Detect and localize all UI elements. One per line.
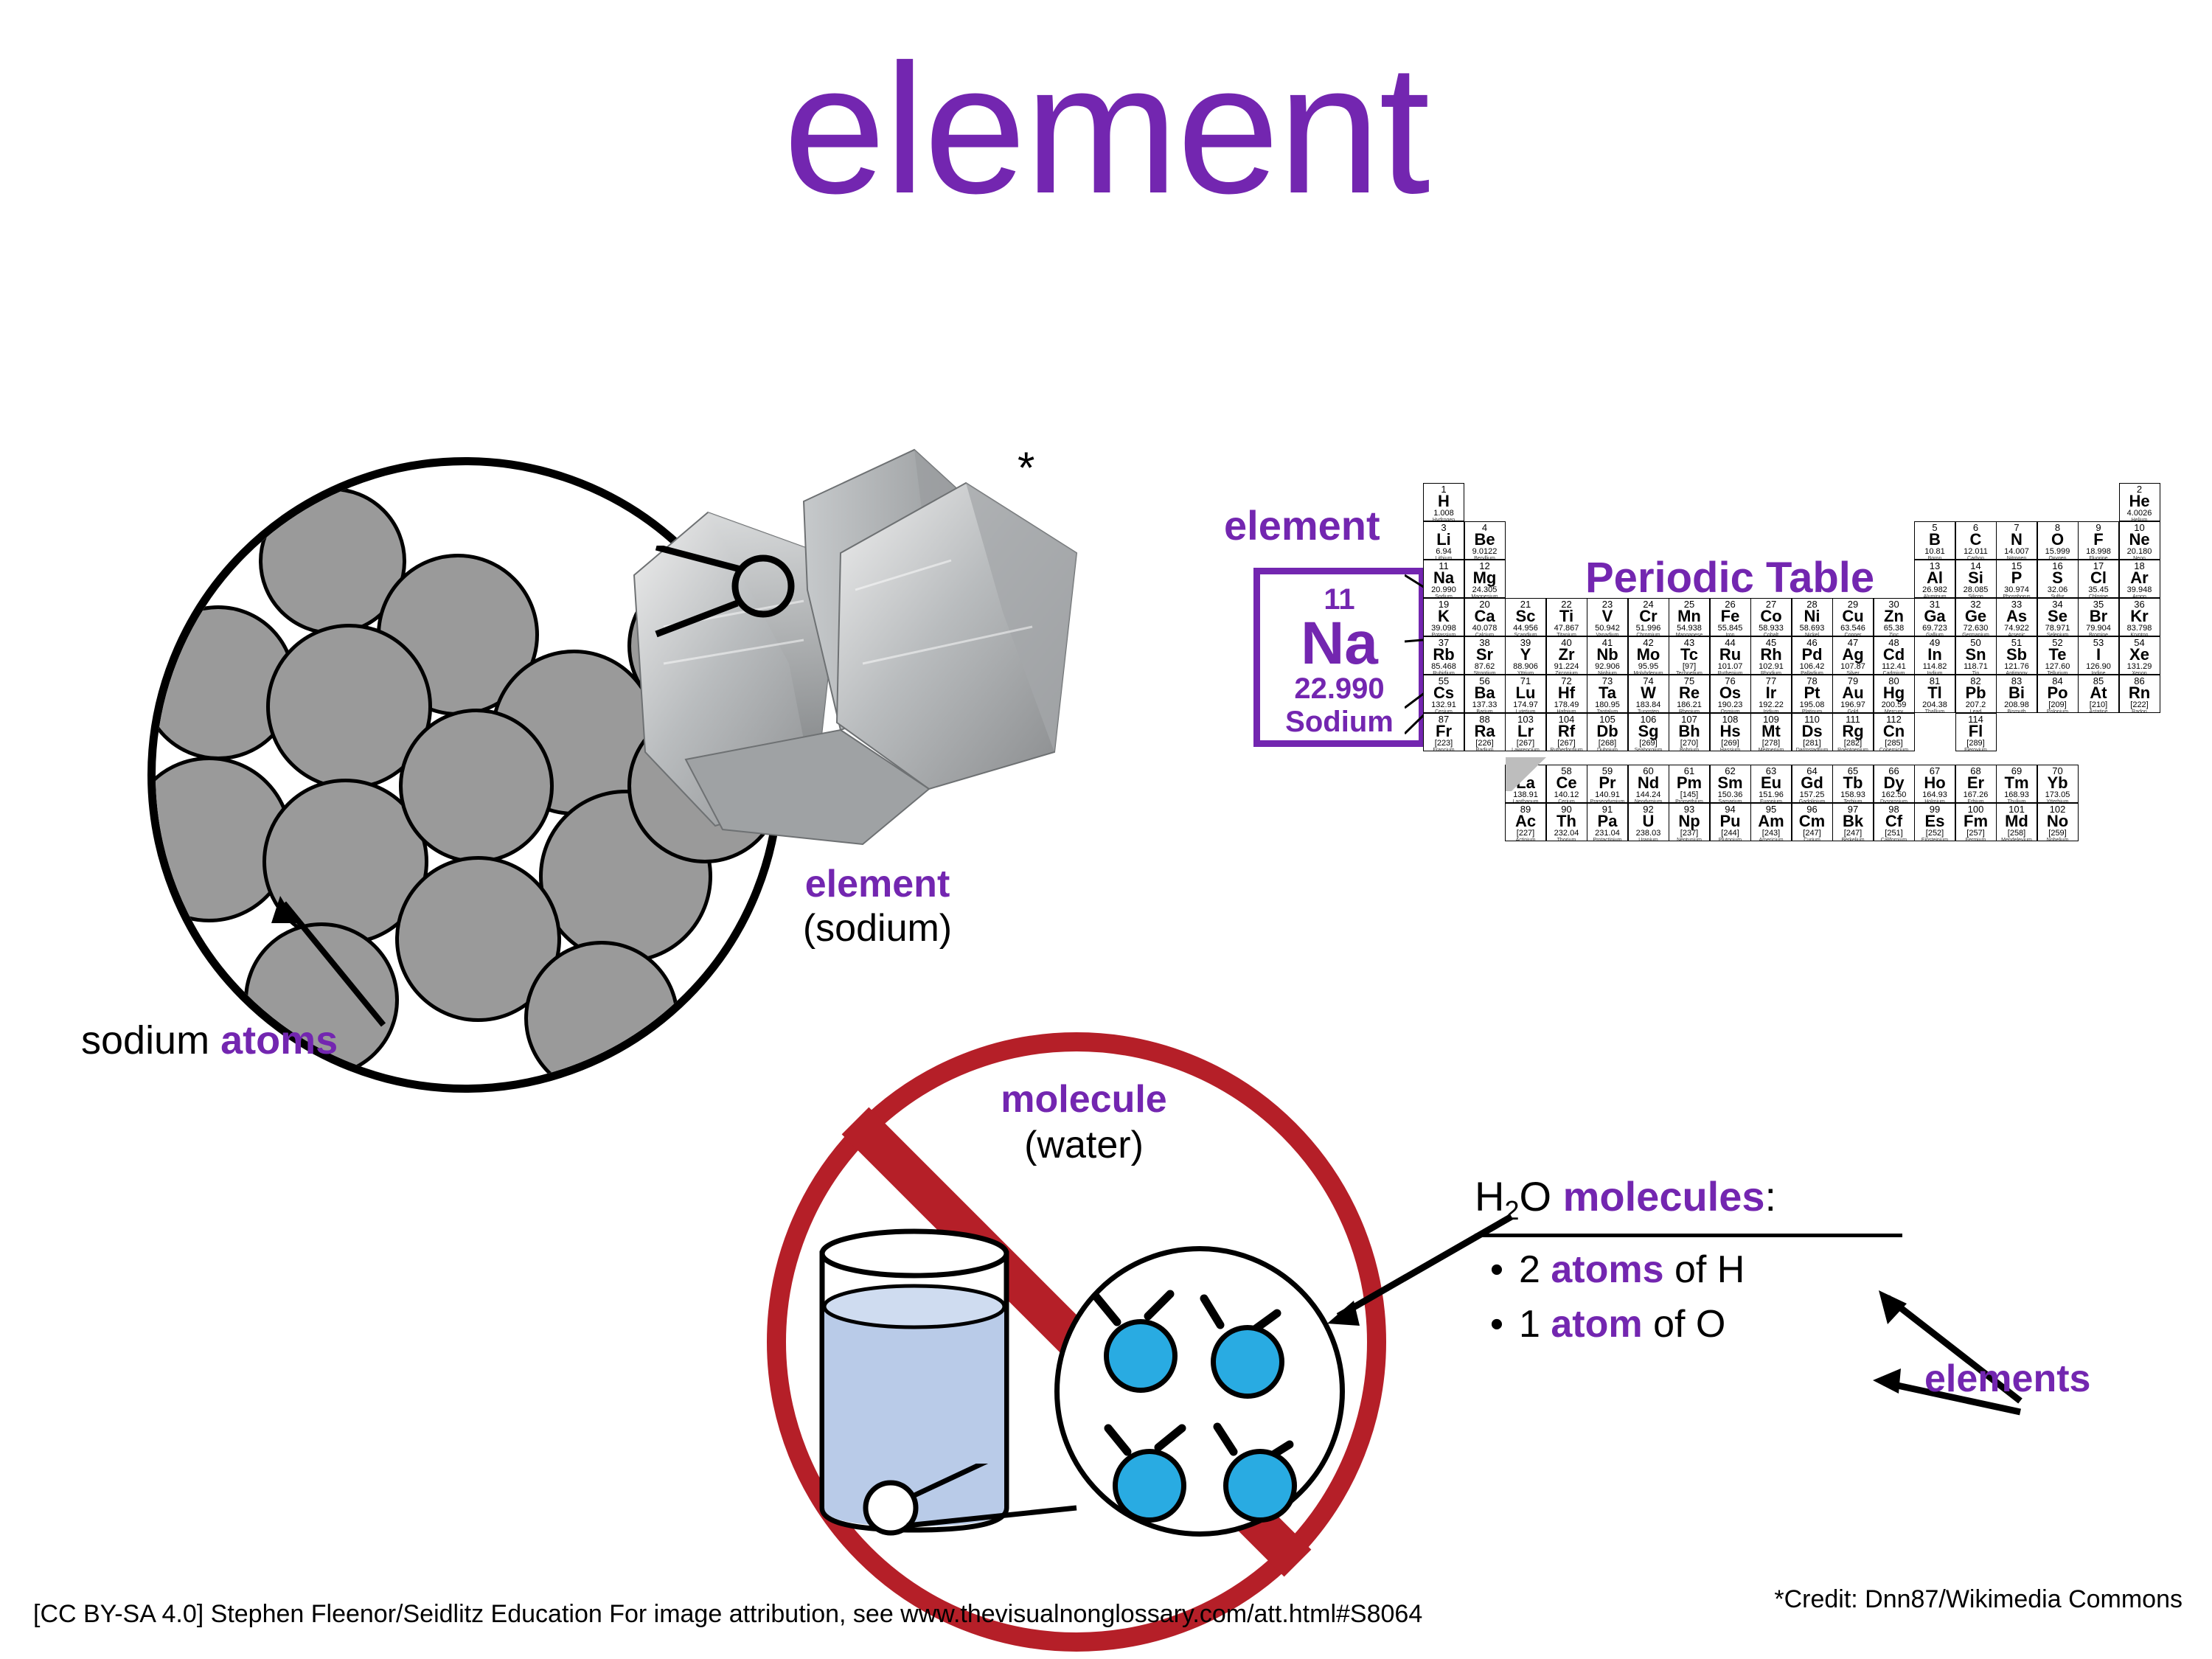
periodic-cell-se: 34Se78.971Selenium [2037,598,2079,636]
cell-mass: [267] [1506,740,1545,748]
cell-mass: 92.906 [1587,663,1627,671]
cell-name: Bohrium [1669,748,1709,751]
cell-symbol: Pm [1669,775,1709,791]
cell-symbol: Mo [1629,647,1669,663]
cell-mass: 102.91 [1751,663,1791,671]
periodic-cell-rb: 37Rb85.468Rubidium [1423,636,1464,675]
footer-credit: *Credit: Dnn87/Wikimedia Commons [1774,1585,2183,1614]
bullet-rest: of H [1664,1248,1745,1291]
cell-mass: 168.93 [1997,791,2037,799]
cell-mass: 65.38 [1874,625,1914,633]
cell-symbol: Cu [1833,608,1873,625]
cell-mass: 58.933 [1751,625,1791,633]
sodium-crystal-image [619,442,1165,914]
cell-mass: 30.974 [1997,586,2037,594]
element-callout-label: element [1224,501,1380,549]
cell-mass: [97] [1669,663,1709,671]
cell-symbol: Sr [1465,647,1505,663]
cell-name: Radium [1465,748,1505,751]
periodic-cell-b: 5B10.81Boron [1914,521,1955,560]
cell-name: Thallium [1915,709,1955,713]
periodic-cell-sb: 51Sb121.76Antimony [1996,636,2037,675]
cell-symbol: In [1915,647,1955,663]
periodic-cell-sg: 106Sg[269]Seaborgium [1628,713,1669,751]
cell-mass: [209] [2038,701,2078,709]
elements-pointer-arrows [1799,1253,2050,1445]
periodic-cell-h: 1H1.008Hydrogen [1423,483,1464,521]
sodium-atoms-label: sodium atoms [81,1018,465,1063]
periodic-cell-zr: 40Zr91.224Zirconium [1546,636,1587,675]
periodic-cell-re: 75Re186.21Rhenium [1669,675,1710,713]
cell-symbol: Po [2038,685,2078,701]
cell-mass: [278] [1751,740,1791,748]
cell-symbol: Ar [2120,570,2160,586]
cell-mass: [251] [1874,829,1914,838]
cell-mass: [282] [1833,740,1873,748]
cell-mass: 232.04 [1547,829,1587,838]
bullet-rest: of O [1643,1303,1726,1346]
cell-name: Neptunium [1669,838,1709,841]
cell-mass: 186.21 [1669,701,1709,709]
cell-symbol: Cl [2079,570,2118,586]
cell-mass: 87.62 [1465,663,1505,671]
cell-symbol: Ru [1711,647,1750,663]
periodic-cell-na: 11Na20.990Sodium [1423,560,1464,598]
footer-attribution: [CC BY-SA 4.0] Stephen Fleenor/Seidlitz … [33,1600,1422,1629]
cell-mass: [269] [1711,740,1750,748]
cell-mass: [227] [1506,829,1545,838]
cell-mass: 50.942 [1587,625,1627,633]
cell-symbol: I [2079,647,2118,663]
periodic-cell-fm: 100Fm[257]Fermium [1955,803,1997,841]
cell-mass: 207.2 [1956,701,1996,709]
cell-mass: 167.26 [1956,791,1996,799]
periodic-cell-la: 57La138.91Lanthanum [1505,765,1546,803]
cell-name: Plutonium [1711,838,1750,841]
cell-symbol: Db [1587,723,1627,740]
cell-symbol: V [1587,608,1627,625]
cell-symbol: P [1997,570,2037,586]
sodium-atomic-mass: 22.990 [1260,672,1419,706]
cell-mass: [222] [2120,701,2160,709]
periodic-cell-os: 76Os190.23Osmium [1710,675,1751,713]
cell-symbol: Pd [1792,647,1832,663]
cell-name: Copernicium [1874,748,1914,751]
periodic-cell-as: 33As74.922Arsenic [1996,598,2037,636]
cell-mass: 121.76 [1997,663,2037,671]
periodic-cell-tb: 65Tb158.93Terbium [1832,765,1874,803]
periodic-cell-lr: 103Lr[267]Lawrencium [1505,713,1546,751]
cell-name: Actinium [1506,838,1545,841]
cell-symbol: Hg [1874,685,1914,701]
periodic-cell-s: 16S32.06Sulfur [2037,560,2079,598]
periodic-cell-ce: 58Ce140.12Cerium [1546,765,1587,803]
oxygen-atom-dot [1104,1319,1178,1393]
cell-mass: 40.078 [1465,625,1505,633]
cell-symbol: Np [1669,813,1709,829]
cell-symbol: W [1629,685,1669,701]
cell-mass: [244] [1711,829,1750,838]
cell-symbol: Cn [1874,723,1914,740]
periodic-cell-mn: 25Mn54.938Manganese [1669,598,1710,636]
cell-name: Flerovium [1956,748,1996,751]
periodic-cell-pm: 61Pm[145]Promethium [1669,765,1710,803]
cell-name: Americium [1751,838,1791,841]
h2o-divider [1475,1234,1902,1237]
periodic-cell-al: 13Al26.982Aluminum [1914,560,1955,598]
cell-symbol: Fe [1711,608,1750,625]
cell-mass: 151.96 [1751,791,1791,799]
cell-symbol: Fr [1424,723,1464,740]
cell-symbol: Md [1997,813,2037,829]
cell-mass: 20.180 [2120,548,2160,556]
cell-symbol: Os [1711,685,1750,701]
cell-symbol: Bk [1833,813,1873,829]
cell-mass: 12.011 [1956,548,1996,556]
periodic-cell-rn: 86Rn[222]Radon [2119,675,2160,713]
periodic-cell-ar: 18Ar39.948Argon [2119,560,2160,598]
cell-mass: 78.971 [2038,625,2078,633]
cell-mass: 208.98 [1997,701,2037,709]
cell-name: Seaborgium [1629,748,1669,751]
cell-name: Hassium [1711,748,1750,751]
periodic-cell-tm: 69Tm168.93Thulium [1996,765,2037,803]
cell-symbol: Ti [1547,608,1587,625]
element-sodium-caption-top: element [708,863,1047,907]
cell-symbol: Y [1506,647,1545,663]
cell-mass: 28.085 [1956,586,1996,594]
cell-mass: [145] [1669,791,1709,799]
cell-symbol: Au [1833,685,1873,701]
periodic-cell-hg: 80Hg200.59Mercury [1874,675,1915,713]
cell-mass: 14.007 [1997,548,2037,556]
cell-mass: 32.06 [2038,586,2078,594]
cell-symbol: Ir [1751,685,1791,701]
periodic-cell-sc: 21Sc44.956Scandium [1505,598,1546,636]
cell-symbol: Rn [2120,685,2160,701]
cell-mass: 162.50 [1874,791,1914,799]
cell-name: Curium [1792,838,1832,841]
cell-symbol: Tb [1833,775,1873,791]
cell-mass: [259] [2038,829,2078,838]
cell-symbol: No [2038,813,2078,829]
cell-mass: 18.998 [2079,548,2118,556]
periodic-cell-kr: 36Kr83.798Krypton [2119,598,2160,636]
periodic-cell-be: 4Be9.0122Beryllium [1464,521,1506,560]
cell-symbol: N [1997,532,2037,548]
periodic-cell-k: 19K39.098Potassium [1423,598,1464,636]
periodic-cell-sm: 62Sm150.36Samarium [1710,765,1751,803]
elements-label: elements [1924,1357,2090,1401]
cell-mass: 138.91 [1506,791,1545,799]
cell-symbol: K [1424,608,1464,625]
cell-symbol: He [2120,493,2160,509]
periodic-cell-at: 85At[210]Astatine [2078,675,2119,713]
cell-symbol: Ga [1915,608,1955,625]
cell-symbol: Na [1424,570,1464,586]
periodic-cell-w: 74W183.84Tungsten [1628,675,1669,713]
cell-mass: 85.468 [1424,663,1464,671]
periodic-cell-ru: 44Ru101.07Ruthenium [1710,636,1751,675]
periodic-cell-cd: 48Cd112.41Cadmium [1874,636,1915,675]
cell-mass: 131.29 [2120,663,2160,671]
cell-mass: 88.906 [1506,663,1545,671]
periodic-cell-ga: 31Ga69.723Gallium [1914,598,1955,636]
cell-symbol: Rh [1751,647,1791,663]
cell-symbol: H [1424,493,1464,509]
sodium-symbol: Na [1260,615,1419,672]
periodic-cell-bi: 83Bi208.98Bismuth [1996,675,2037,713]
periodic-cell-i: 53I126.90Iodine [2078,636,2119,675]
cell-symbol: Fm [1956,813,1996,829]
element-sodium-caption: element (sodium) [708,863,1047,951]
cell-mass: 83.798 [2120,625,2160,633]
periodic-cell-o: 8O15.999Oxygen [2037,521,2079,560]
cell-mass: 51.996 [1629,625,1669,633]
cell-name: Polonium [2038,709,2078,713]
periodic-cell-th: 90Th232.04Thorium [1546,803,1587,841]
periodic-cell-cn: 112Cn[285]Copernicium [1874,713,1915,751]
cell-mass: 58.693 [1792,625,1832,633]
cell-symbol: Sg [1629,723,1669,740]
periodic-cell-tl: 81Tl204.38Thallium [1914,675,1955,713]
cell-mass: [237] [1669,829,1709,838]
cell-symbol: U [1629,813,1669,829]
cell-name: Astatine [2079,709,2118,713]
cell-mass: 79.904 [2079,625,2118,633]
cell-name: Francium [1424,748,1464,751]
periodic-cell-cf: 98Cf[251]Californium [1874,803,1915,841]
cell-mass: 47.867 [1547,625,1587,633]
cell-mass: 69.723 [1915,625,1955,633]
cell-mass: 183.84 [1629,701,1669,709]
periodic-cell-fr: 87Fr[223]Francium [1423,713,1464,751]
cell-symbol: Sb [1997,647,2037,663]
h2o-title-colon: : [1765,1173,1777,1220]
cell-symbol: Sc [1506,608,1545,625]
cell-symbol: Rg [1833,723,1873,740]
cell-mass: 195.08 [1792,701,1832,709]
periodic-cell-ta: 73Ta180.95Tantalum [1587,675,1628,713]
h2o-title: H2O molecules: [1475,1172,1932,1226]
h2o-title-molecules: molecules [1563,1173,1765,1220]
cell-mass: [258] [1997,829,2037,838]
cell-mass: 196.97 [1833,701,1873,709]
cell-mass: 114.82 [1915,663,1955,671]
periodic-cell-ni: 28Ni58.693Nickel [1792,598,1833,636]
cell-mass: 74.922 [1997,625,2037,633]
cell-name: Einsteinium [1915,838,1955,841]
periodic-cell-pd: 46Pd106.42Palladium [1792,636,1833,675]
bullet-dot: • [1475,1248,1519,1292]
periodic-cell-he: 2He4.0026Helium [2119,483,2160,521]
cell-symbol: Rf [1547,723,1587,740]
cell-symbol: La [1506,775,1545,791]
cell-symbol: Hf [1547,685,1587,701]
cell-symbol: B [1915,532,1955,548]
cell-mass: [257] [1956,829,1996,838]
cell-mass: [226] [1465,740,1505,748]
cell-symbol: Kr [2120,608,2160,625]
page-title: element [0,37,2212,221]
periodic-cell-ir: 77Ir192.22Iridium [1750,675,1792,713]
cell-mass: 63.546 [1833,625,1873,633]
periodic-cell-mo: 42Mo95.95Molybdenum [1628,636,1669,675]
periodic-cell-bk: 97Bk[247]Berkelium [1832,803,1874,841]
cell-symbol: Pt [1792,685,1832,701]
periodic-cell-dy: 66Dy162.50Dysprosium [1874,765,1915,803]
cell-mass: 231.04 [1587,829,1627,838]
cell-name: Protactinium [1587,838,1627,841]
periodic-cell-v: 23V50.942Vanadium [1587,598,1628,636]
cell-mass: 200.59 [1874,701,1914,709]
cell-mass: [281] [1792,740,1832,748]
periodic-cell-ho: 67Ho164.93Holmium [1914,765,1955,803]
h2o-title-h: H [1475,1173,1504,1220]
periodic-cell-rf: 104Rf[267]Rutherfordium [1546,713,1587,751]
periodic-cell-hs: 108Hs[269]Hassium [1710,713,1751,751]
cell-symbol: Es [1915,813,1955,829]
periodic-cell-ne: 10Ne20.180Neon [2119,521,2160,560]
periodic-cell-mt: 109Mt[278]Meitnerium [1750,713,1792,751]
sodium-atoms-arrow [236,877,406,1040]
cell-mass: [267] [1547,740,1587,748]
cell-name: Fermium [1956,838,1996,841]
periodic-cell-ti: 22Ti47.867Titanium [1546,598,1587,636]
periodic-cell-p: 15P30.974Phosphorus [1996,560,2037,598]
cell-mass: 150.36 [1711,791,1750,799]
cell-symbol: Bi [1997,685,2037,701]
cell-symbol: Lu [1506,685,1545,701]
element-sodium-caption-bottom: (sodium) [708,907,1047,951]
cell-symbol: Cr [1629,608,1669,625]
periodic-cell-fe: 26Fe55.845Iron [1710,598,1751,636]
cell-symbol: Nb [1587,647,1627,663]
cell-symbol: Pa [1587,813,1627,829]
magnifier-leader-line [649,546,826,649]
cell-mass: 95.95 [1629,663,1669,671]
cell-symbol: Ni [1792,608,1832,625]
cell-symbol: Gd [1792,775,1832,791]
cell-symbol: Re [1669,685,1709,701]
cell-mass: 174.97 [1506,701,1545,709]
cell-mass: 72.630 [1956,625,1996,633]
periodic-cell-ag: 47Ag107.87Silver [1832,636,1874,675]
cell-symbol: Ds [1792,723,1832,740]
periodic-cell-fl: 114Fl[289]Flerovium [1955,713,1997,751]
cell-symbol: Cd [1874,647,1914,663]
periodic-cell-pb: 82Pb207.2Lead [1955,675,1997,713]
periodic-cell-po: 84Po[209]Polonium [2037,675,2079,713]
cell-symbol: Al [1915,570,1955,586]
cell-symbol: Mt [1751,723,1791,740]
cell-symbol: Se [2038,608,2078,625]
cell-symbol: Sn [1956,647,1996,663]
cell-symbol: At [2079,685,2118,701]
atom-circle [399,709,554,863]
periodic-cell-md: 101Md[258]Mendelevium [1996,803,2037,841]
periodic-cell-pu: 94Pu[244]Plutonium [1710,803,1751,841]
cell-mass: [247] [1792,829,1832,838]
periodic-cell-bh: 107Bh[270]Bohrium [1669,713,1710,751]
cell-mass: 91.224 [1547,663,1587,671]
periodic-cell-si: 14Si28.085Silicon [1955,560,1997,598]
periodic-cell-rh: 45Rh102.91Rhodium [1750,636,1792,675]
periodic-cell-tc: 43Tc[97]Technetium [1669,636,1710,675]
cell-name: Uranium [1629,838,1669,841]
cell-mass: 180.95 [1587,701,1627,709]
periodic-cell-br: 35Br79.904Bromine [2078,598,2119,636]
cell-mass: 101.07 [1711,663,1750,671]
bullet-atom-word: atom [1551,1303,1642,1346]
cell-symbol: Ho [1915,775,1955,791]
cell-symbol: Li [1424,532,1464,548]
cell-mass: 15.999 [2038,548,2078,556]
sodium-atoms-label-prefix: sodium [81,1018,220,1062]
cell-symbol: Si [1956,570,1996,586]
cell-symbol: Cm [1792,813,1832,829]
cell-mass: [268] [1587,740,1627,748]
periodic-cell-cs: 55Cs132.91Cesium [1423,675,1464,713]
cell-symbol: Cf [1874,813,1914,829]
cell-symbol: Fl [1956,723,1996,740]
cell-name: Meitnerium [1751,748,1791,751]
periodic-cell-rg: 111Rg[282]Roentgenium [1832,713,1874,751]
periodic-cell-pa: 91Pa231.04Protactinium [1587,803,1628,841]
periodic-cell-cl: 17Cl35.45Chlorine [2078,560,2119,598]
periodic-cell-nd: 60Nd144.24Neodymium [1628,765,1669,803]
periodic-cell-u: 92U238.03Uranium [1628,803,1669,841]
cell-symbol: Dy [1874,775,1914,791]
cell-mass: 178.49 [1547,701,1587,709]
sodium-element-name: Sodium [1260,706,1419,739]
cell-symbol: Tc [1669,647,1709,663]
cell-symbol: Pb [1956,685,1996,701]
sodium-atoms-label-bold: atoms [220,1018,338,1062]
cell-mass: 126.90 [2079,663,2118,671]
cell-name: Berkelium [1833,838,1873,841]
periodic-cell-er: 68Er167.26Erbium [1955,765,1997,803]
cell-symbol: Eu [1751,775,1791,791]
cell-symbol: Ce [1547,775,1587,791]
cell-mass: 118.71 [1956,663,1996,671]
cell-mass: 107.87 [1833,663,1873,671]
credit-asterisk: * [1018,442,1034,493]
cell-symbol: Sm [1711,775,1750,791]
cell-symbol: Ba [1465,685,1505,701]
cell-mass: 137.33 [1465,701,1505,709]
cell-symbol: Tl [1915,685,1955,701]
molecule-caption-bottom: (water) [907,1122,1261,1168]
cell-mass: 9.0122 [1465,548,1505,556]
cell-symbol: Mn [1669,608,1709,625]
cell-symbol: Xe [2120,647,2160,663]
h2o-title-subscript: 2 [1504,1195,1519,1225]
cell-symbol: Am [1751,813,1791,829]
cell-mass: [270] [1669,740,1709,748]
cell-name: Nobelium [2038,838,2078,841]
periodic-cell-ba: 56Ba137.33Barium [1464,675,1506,713]
cell-symbol: O [2038,532,2078,548]
cell-symbol: Ge [1956,608,1996,625]
cell-mass: 106.42 [1792,663,1832,671]
periodic-cell-eu: 63Eu151.96Europium [1750,765,1792,803]
cell-mass: 192.22 [1751,701,1791,709]
bullet-count: 1 [1519,1303,1551,1346]
oxygen-atom-dot [1211,1325,1284,1399]
periodic-cell-sr: 38Sr87.62Strontium [1464,636,1506,675]
periodic-cell-co: 27Co58.933Cobalt [1750,598,1792,636]
